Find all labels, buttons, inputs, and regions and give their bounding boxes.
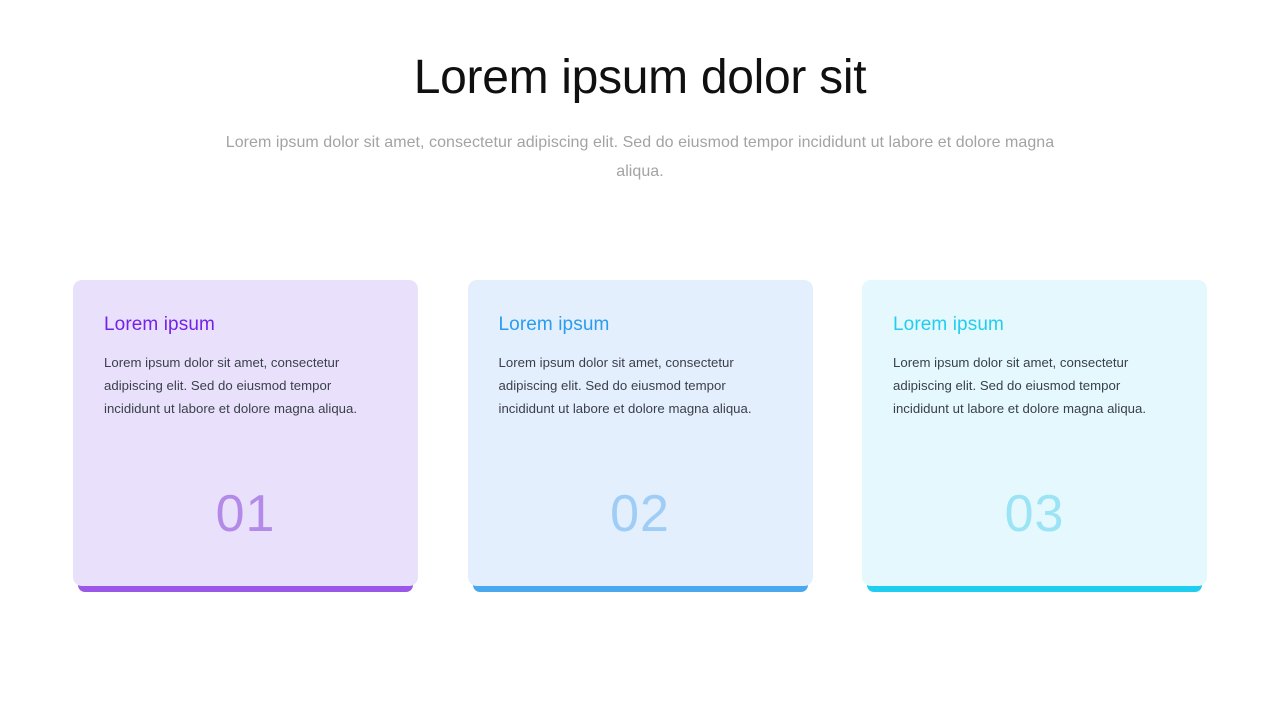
card-title-01: Lorem ipsum <box>104 314 388 337</box>
card-02[interactable]: Lorem ipsum Lorem ipsum dolor sit amet, … <box>468 280 813 592</box>
cards-row: Lorem ipsum Lorem ipsum dolor sit amet, … <box>73 280 1207 592</box>
page-title: Lorem ipsum dolor sit <box>0 52 1280 104</box>
card-body-01: Lorem ipsum dolor sit amet, consectetur … <box>104 351 384 420</box>
card-03[interactable]: Lorem ipsum Lorem ipsum dolor sit amet, … <box>862 280 1207 592</box>
slide-header: Lorem ipsum dolor sit Lorem ipsum dolor … <box>0 0 1280 186</box>
card-number-03: 03 <box>862 488 1207 540</box>
card-number-01: 01 <box>73 488 418 540</box>
card-surface-03[interactable]: Lorem ipsum Lorem ipsum dolor sit amet, … <box>862 280 1207 586</box>
card-body-03: Lorem ipsum dolor sit amet, consectetur … <box>893 351 1173 420</box>
card-01[interactable]: Lorem ipsum Lorem ipsum dolor sit amet, … <box>73 280 418 592</box>
card-title-02: Lorem ipsum <box>499 314 783 337</box>
page-subtitle: Lorem ipsum dolor sit amet, consectetur … <box>200 128 1080 186</box>
card-body-02: Lorem ipsum dolor sit amet, consectetur … <box>499 351 779 420</box>
card-number-02: 02 <box>468 488 813 540</box>
slide-canvas: Lorem ipsum dolor sit Lorem ipsum dolor … <box>0 0 1280 720</box>
card-surface-02[interactable]: Lorem ipsum Lorem ipsum dolor sit amet, … <box>468 280 813 586</box>
card-surface-01[interactable]: Lorem ipsum Lorem ipsum dolor sit amet, … <box>73 280 418 586</box>
card-title-03: Lorem ipsum <box>893 314 1177 337</box>
